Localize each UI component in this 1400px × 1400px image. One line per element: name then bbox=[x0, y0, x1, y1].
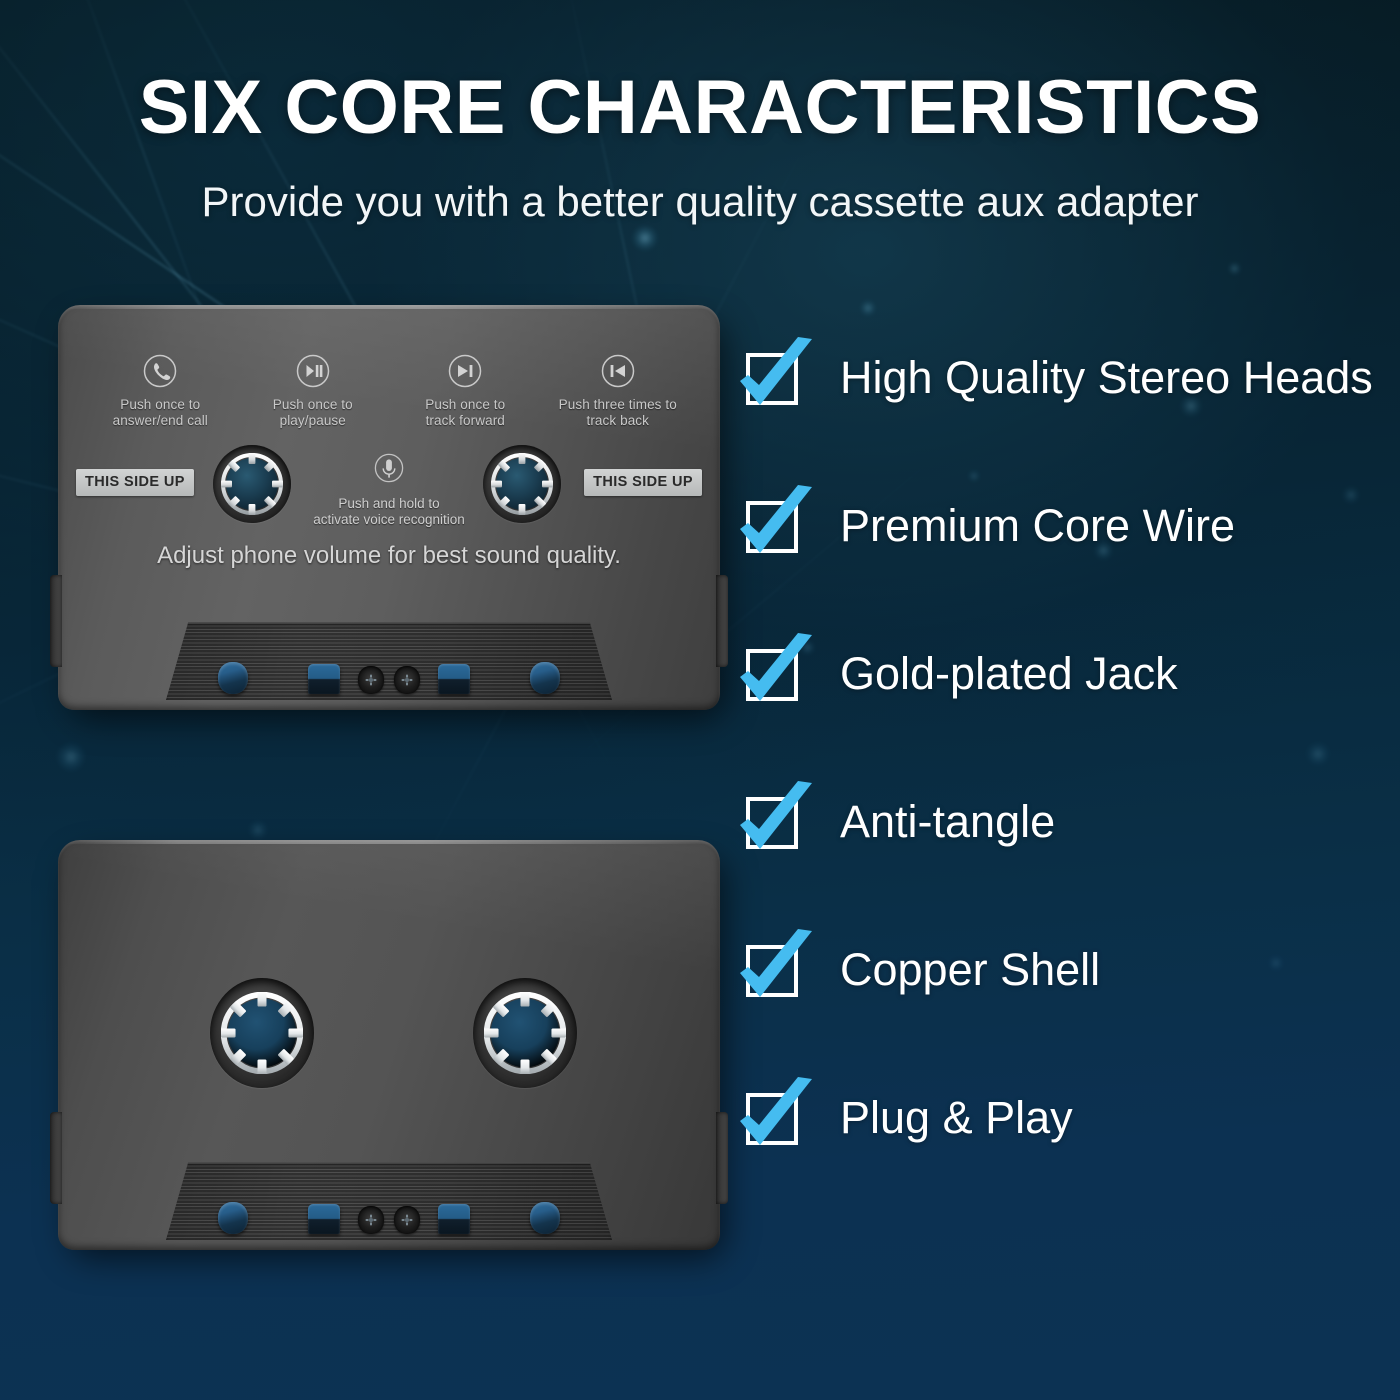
panel-slot-right bbox=[438, 1204, 470, 1234]
panel-hole-right bbox=[530, 662, 560, 694]
feature-item-premium-core-wire: Premium Core Wire bbox=[742, 478, 1382, 574]
feature-checklist: High Quality Stereo Heads Premium Core W… bbox=[742, 330, 1382, 1218]
panel-slot-left bbox=[308, 664, 340, 694]
voice-recognition-line1: Push and hold to bbox=[338, 496, 439, 511]
checkbox-checked-icon bbox=[742, 791, 804, 853]
checkmark-icon bbox=[734, 335, 820, 421]
panel-hole-left bbox=[218, 662, 248, 694]
feature-label: Gold-plated Jack bbox=[840, 648, 1178, 700]
volume-note: Adjust phone volume for best sound quali… bbox=[58, 542, 720, 570]
control-answer-call-line2: answer/end call bbox=[113, 413, 208, 428]
product-feature-graphic: SIX CORE CHARACTERISTICS Provide you wit… bbox=[0, 0, 1400, 1400]
control-track-forward-line1: Push once to bbox=[425, 397, 505, 412]
track-forward-icon bbox=[447, 353, 483, 389]
feature-label: Anti-tangle bbox=[840, 796, 1055, 848]
cassette-front-shell: Push once to answer/end call Push once t… bbox=[58, 305, 720, 710]
feature-label: High Quality Stereo Heads bbox=[840, 352, 1373, 404]
panel-slot-right bbox=[438, 664, 470, 694]
cassette-control-row: Push once to answer/end call Push once t… bbox=[58, 353, 720, 429]
spool-hub-icon bbox=[221, 992, 303, 1074]
control-track-forward: Push once to track forward bbox=[390, 353, 540, 429]
checkmark-icon bbox=[734, 631, 820, 717]
feature-label: Copper Shell bbox=[840, 944, 1100, 996]
control-answer-call-line1: Push once to bbox=[120, 397, 200, 412]
track-back-icon bbox=[600, 353, 636, 389]
control-play-pause: Push once to play/pause bbox=[238, 353, 388, 429]
checkmark-icon bbox=[734, 779, 820, 865]
feature-item-high-quality-stereo-heads: High Quality Stereo Heads bbox=[742, 330, 1382, 426]
panel-sprocket-right bbox=[394, 666, 420, 694]
back-spool-hub-left bbox=[210, 978, 314, 1088]
cassette-notch-left bbox=[50, 575, 62, 667]
page-subtitle: Provide you with a better quality casset… bbox=[0, 178, 1400, 226]
cassette-front-image: Push once to answer/end call Push once t… bbox=[58, 305, 720, 710]
microphone-icon bbox=[374, 453, 404, 487]
back-spool-hub-right bbox=[473, 978, 577, 1088]
checkbox-checked-icon bbox=[742, 939, 804, 1001]
cassette-back-shell bbox=[58, 840, 720, 1250]
cassette-top-highlight bbox=[58, 840, 720, 844]
cassette-notch-left bbox=[50, 1112, 62, 1204]
control-track-back-line1: Push three times to bbox=[559, 397, 677, 412]
control-play-pause-line1: Push once to bbox=[273, 397, 353, 412]
feature-item-anti-tangle: Anti-tangle bbox=[742, 774, 1382, 870]
panel-sprocket-left bbox=[358, 1206, 384, 1234]
cassette-notch-right bbox=[716, 1112, 728, 1204]
phone-handset-icon bbox=[142, 353, 178, 389]
control-track-forward-line2: track forward bbox=[426, 413, 505, 428]
feature-item-copper-shell: Copper Shell bbox=[742, 922, 1382, 1018]
voice-recognition-block: Push and hold to activate voice recognit… bbox=[58, 453, 720, 528]
cassette-ribbed-panel bbox=[166, 1162, 612, 1240]
cassette-back-image bbox=[58, 840, 720, 1250]
cassette-notch-right bbox=[716, 575, 728, 667]
checkbox-checked-icon bbox=[742, 1087, 804, 1149]
feature-label: Plug & Play bbox=[840, 1092, 1073, 1144]
panel-hole-right bbox=[530, 1202, 560, 1234]
control-play-pause-line2: play/pause bbox=[280, 413, 346, 428]
voice-recognition-line2: activate voice recognition bbox=[313, 512, 465, 527]
checkmark-icon bbox=[734, 1075, 820, 1161]
checkmark-icon bbox=[734, 483, 820, 569]
spool-hub-icon bbox=[484, 992, 566, 1074]
panel-sprocket-left bbox=[358, 666, 384, 694]
cassette-ribbed-panel bbox=[166, 622, 612, 700]
control-track-back: Push three times to track back bbox=[543, 353, 693, 429]
panel-sprocket-right bbox=[394, 1206, 420, 1234]
feature-item-gold-plated-jack: Gold-plated Jack bbox=[742, 626, 1382, 722]
checkmark-icon bbox=[734, 927, 820, 1013]
checkbox-checked-icon bbox=[742, 495, 804, 557]
checkbox-checked-icon bbox=[742, 643, 804, 705]
play-pause-icon bbox=[295, 353, 331, 389]
checkbox-checked-icon bbox=[742, 347, 804, 409]
feature-label: Premium Core Wire bbox=[840, 500, 1235, 552]
cassette-top-highlight bbox=[58, 305, 720, 309]
control-answer-call: Push once to answer/end call bbox=[85, 353, 235, 429]
feature-item-plug-and-play: Plug & Play bbox=[742, 1070, 1382, 1166]
control-track-back-line2: track back bbox=[586, 413, 649, 428]
page-title: SIX CORE CHARACTERISTICS bbox=[0, 64, 1400, 151]
panel-hole-left bbox=[218, 1202, 248, 1234]
panel-slot-left bbox=[308, 1204, 340, 1234]
